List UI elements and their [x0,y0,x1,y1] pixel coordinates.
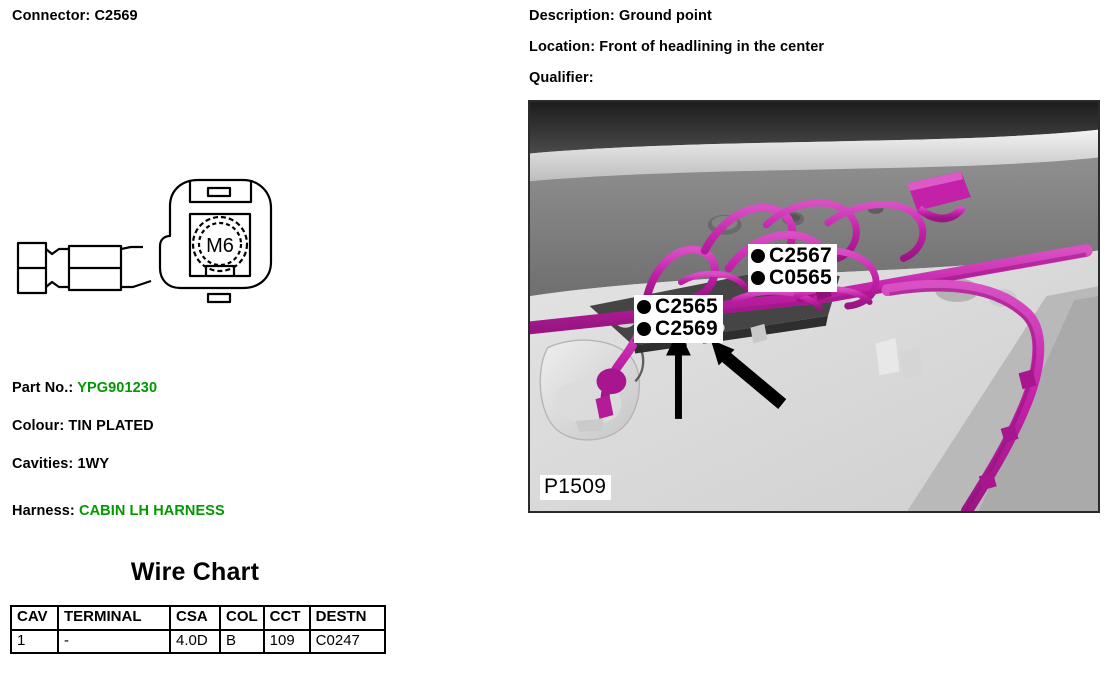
table-header-row: CAV TERMINAL CSA COL CCT DESTN [11,606,385,630]
description-label: Description: [529,8,615,24]
column-header-terminal: TERMINAL [58,606,170,630]
harness-clip-3 [899,348,923,380]
connector-title: Connector: C2569 [12,8,138,24]
column-header-cct: CCT [264,606,310,630]
callout-label-lower: C2565 C2569 [634,295,723,343]
stud-size-label: M6 [206,235,234,257]
bullet-icon [751,271,765,285]
callout-lower-text-1: C2565 [655,295,718,318]
cavities-value: 1WY [77,456,109,472]
cell-destn: C0247 [310,630,385,654]
callout-label-upper: C2567 C0565 [748,244,837,292]
connector-label: Connector: [12,8,90,24]
cell-col: B [220,630,264,654]
bullet-icon [637,322,651,336]
location-row: Location: Front of headlining in the cen… [529,39,824,55]
colour-value: TIN PLATED [68,418,153,434]
callout-upper-text-1: C2567 [769,244,832,267]
vehicle-photo [530,102,1098,511]
cell-terminal: - [58,630,170,654]
connector-diagram: M6 [0,150,300,320]
bullet-icon [637,300,651,314]
part-no-value: YPG901230 [77,380,157,396]
cell-csa: 4.0D [170,630,220,654]
column-header-csa: CSA [170,606,220,630]
wire-chart-table: CAV TERMINAL CSA COL CCT DESTN 1 - 4.0D … [10,605,386,654]
harness-label: Harness: [12,503,75,519]
qualifier-label: Qualifier: [529,70,594,86]
callout-lower-line-1: C2565 [637,296,718,318]
callout-lower-line-2: C2569 [637,318,718,340]
harness-clip-2 [876,338,900,376]
cavities-label: Cavities: [12,456,73,472]
photo-id-label: P1509 [540,475,611,500]
wire-chart-title: Wire Chart [0,558,390,587]
connector-drawing-svg: M6 [0,150,300,320]
part-no-label: Part No.: [12,380,73,396]
colour-row: Colour: TIN PLATED [12,418,154,434]
description-value: Ground point [619,8,712,24]
cavities-row: Cavities: 1WY [12,456,109,472]
location-value: Front of headlining in the center [599,39,824,55]
cell-cav: 1 [11,630,58,654]
harness-value: CABIN LH HARNESS [79,503,225,519]
table-row: 1 - 4.0D B 109 C0247 [11,630,385,654]
part-no-row: Part No.: YPG901230 [12,380,157,396]
terminal-bottom-slot [208,294,230,302]
column-header-cav: CAV [11,606,58,630]
colour-label: Colour: [12,418,64,434]
terminal-top-tab [190,180,251,202]
callout-upper-line-2: C0565 [751,267,832,289]
bullet-icon [751,249,765,263]
terminal-top-slot [208,188,230,196]
connector-value: C2569 [94,8,137,24]
location-photo-panel: C2567 C0565 C2565 C2569 P1509 [528,100,1100,513]
column-header-destn: DESTN [310,606,385,630]
qualifier-row: Qualifier: [529,70,594,86]
harness-row: Harness: CABIN LH HARNESS [12,503,225,519]
description-row: Description: Ground point [529,8,712,24]
column-header-col: COL [220,606,264,630]
cell-cct: 109 [264,630,310,654]
callout-upper-text-2: C0565 [769,266,832,289]
callout-lower-text-2: C2569 [655,317,718,340]
lamp-connector-body [597,368,627,394]
location-label: Location: [529,39,595,55]
lamp-base-tab [576,419,604,432]
callout-upper-line-1: C2567 [751,245,832,267]
